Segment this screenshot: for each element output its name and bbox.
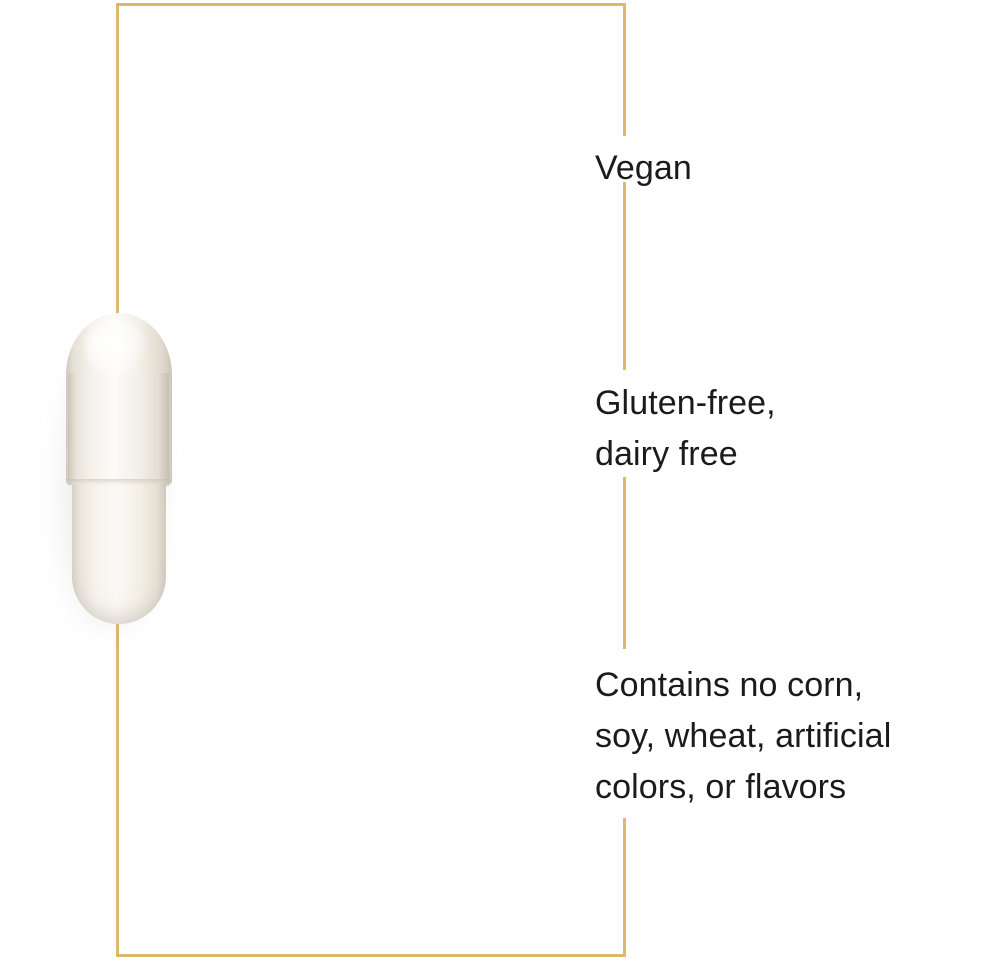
capsule-highlight	[84, 319, 146, 377]
frame-right-edge-segment-1	[623, 3, 626, 136]
capsule-image	[66, 311, 174, 625]
claim-text-no-corn-soy-wheat: Contains no corn, soy, wheat, artificial…	[595, 660, 891, 813]
claim-text-vegan: Vegan	[595, 143, 692, 194]
frame-bottom-edge	[116, 954, 626, 957]
frame-right-edge-segment-4	[623, 818, 626, 957]
capsule-seam-line	[66, 479, 172, 486]
frame-right-edge-segment-2	[623, 182, 626, 370]
capsule-left-shading	[68, 373, 77, 485]
frame-right-edge-segment-3	[623, 477, 626, 649]
product-feature-graphic: Vegan Gluten-free, dairy free Contains n…	[0, 0, 1000, 965]
capsule-cap-half	[66, 313, 172, 485]
capsule-right-shading	[158, 373, 169, 487]
frame-top-edge	[116, 3, 626, 6]
claim-text-gluten-dairy-free: Gluten-free, dairy free	[595, 378, 776, 480]
